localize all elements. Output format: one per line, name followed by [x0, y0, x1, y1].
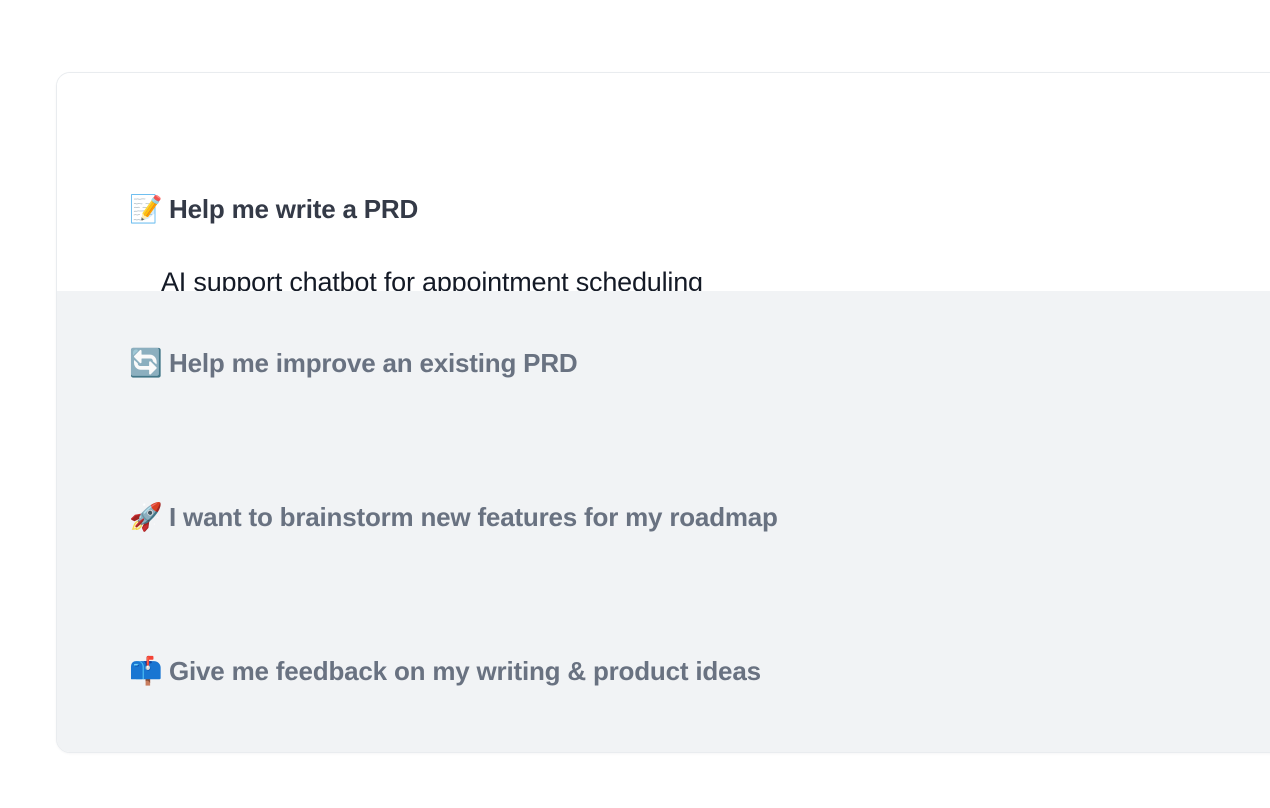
active-option-label: Help me write a PRD [169, 194, 418, 225]
prompt-selector-card: 📝 Help me write a PRD 🔄 Help me improve … [56, 72, 1270, 753]
refresh-icon: 🔄 [129, 350, 159, 377]
suggestion-label: Help me improve an existing PRD [169, 348, 577, 379]
suggestions-section: 🔄 Help me improve an existing PRD 🚀 I wa… [57, 291, 1270, 753]
mailbox-icon: 📫 [129, 658, 159, 685]
active-option-row[interactable]: 📝 Help me write a PRD [161, 194, 418, 225]
suggestion-item-improve-prd[interactable]: 🔄 Help me improve an existing PRD [161, 348, 577, 379]
rocket-icon: 🚀 [129, 504, 159, 531]
page-root: 📝 Help me write a PRD 🔄 Help me improve … [0, 0, 1270, 808]
suggestion-item-brainstorm-features[interactable]: 🚀 I want to brainstorm new features for … [161, 502, 778, 533]
suggestion-label: I want to brainstorm new features for my… [169, 502, 778, 533]
active-prompt-section: 📝 Help me write a PRD [57, 73, 1270, 291]
suggestion-item-give-feedback[interactable]: 📫 Give me feedback on my writing & produ… [161, 656, 761, 687]
suggestion-label: Give me feedback on my writing & product… [169, 656, 761, 687]
memo-icon: 📝 [129, 196, 159, 223]
